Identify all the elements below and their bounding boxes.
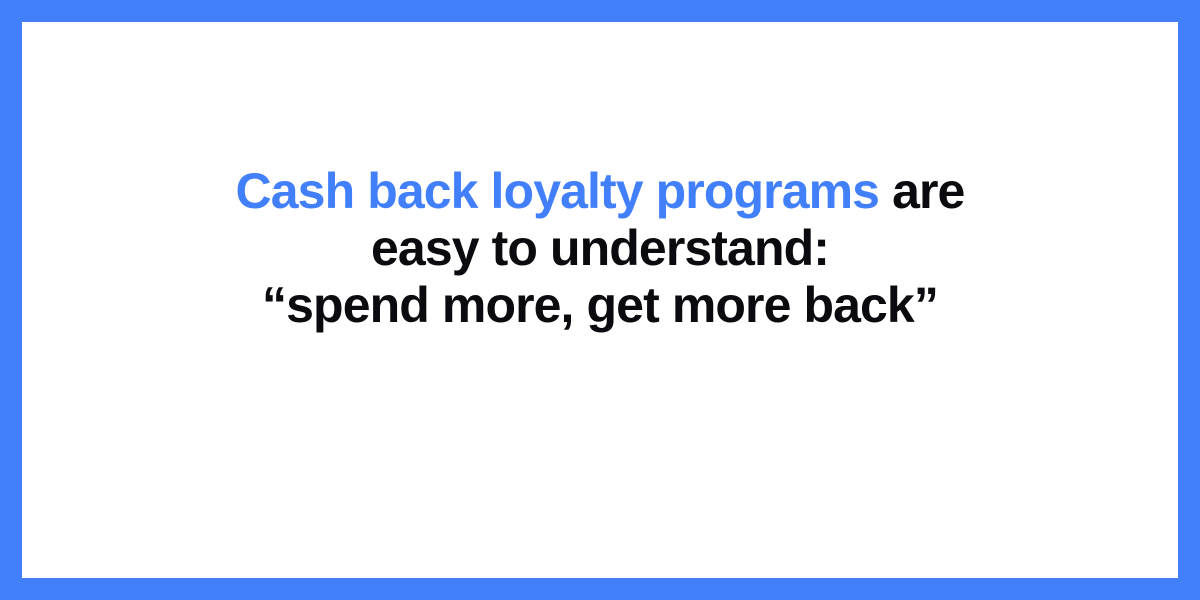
headline-line-3-quote: “spend more, get more back” bbox=[22, 277, 1178, 334]
page-title: Cash back loyalty programs are easy to u… bbox=[22, 163, 1178, 334]
headline-accent-text: Cash back loyalty programs bbox=[236, 163, 880, 219]
slide-canvas: Cash back loyalty programs are easy to u… bbox=[22, 22, 1178, 578]
headline-line-2: easy to understand: bbox=[22, 220, 1178, 277]
headline-line-1: Cash back loyalty programs are bbox=[22, 163, 1178, 220]
slide-frame: Cash back loyalty programs are easy to u… bbox=[0, 0, 1200, 600]
headline-line-1-plain-text: are bbox=[879, 163, 964, 219]
